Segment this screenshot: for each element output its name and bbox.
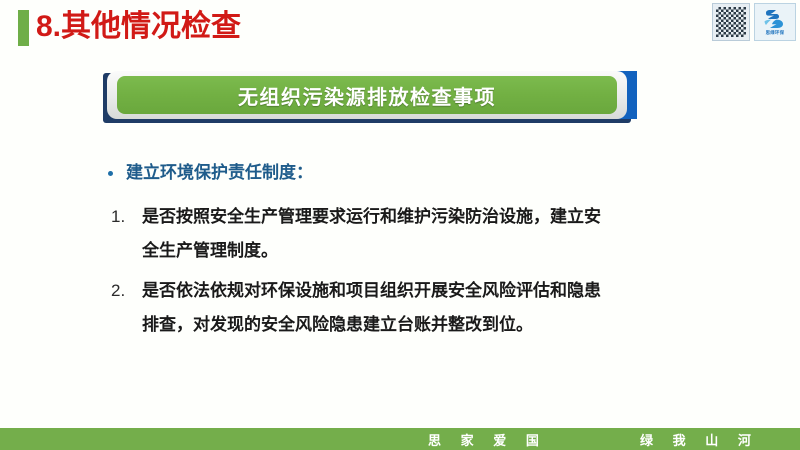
list-item: 1. 是否按照安全生产管理要求运行和维护污染防治设施，建立安 全生产管理制度。 [108, 200, 728, 268]
brand-block: 思绿环保 [712, 3, 796, 41]
bullet-heading-text: 建立环境保护责任制度： [126, 160, 313, 186]
company-logo-icon[interactable]: 思绿环保 [754, 3, 796, 41]
content-area: 建立环境保护责任制度： 1. 是否按照安全生产管理要求运行和维护污染防治设施，建… [108, 160, 728, 348]
bullet-dot-icon [108, 171, 113, 176]
footer-slogan-right: 绿 我 山 河 [640, 430, 759, 449]
list-item: 2. 是否依法依规对环保设施和项目组织开展安全风险评估和隐患 排查，对发现的安全… [108, 274, 728, 342]
list-item-body: 是否依法依规对环保设施和项目组织开展安全风险评估和隐患 排查，对发现的安全风险隐… [142, 274, 728, 342]
footer-slogan-left: 思 家 爱 国 [428, 430, 547, 449]
list-item-line: 排查，对发现的安全风险隐患建立台账并整改到位。 [142, 308, 728, 342]
list-item-number: 1. [108, 200, 142, 234]
list-item-body: 是否按照安全生产管理要求运行和维护污染防治设施，建立安 全生产管理制度。 [142, 200, 728, 268]
slide-root: 8.其他情况检查 思绿环保 无组织污染源排放检查事项 [0, 0, 800, 450]
list-item-number: 2. [108, 274, 142, 308]
qr-code-pattern [716, 7, 746, 37]
title-accent-bar [18, 10, 29, 46]
banner-title: 无组织污染源排放检查事项 [238, 81, 496, 110]
logo-text: 思绿环保 [766, 30, 785, 35]
bullet-heading: 建立环境保护责任制度： [108, 160, 728, 186]
list-item-line: 全生产管理制度。 [142, 234, 728, 268]
qr-code-icon[interactable] [712, 3, 750, 41]
section-banner: 无组织污染源排放检查事项 [103, 71, 637, 123]
banner-body: 无组织污染源排放检查事项 [117, 76, 617, 114]
logo-mark-icon [763, 9, 787, 29]
list-item-line: 是否按照安全生产管理要求运行和维护污染防治设施，建立安 [142, 200, 728, 234]
slide-header: 8.其他情况检查 思绿环保 [0, 0, 800, 56]
page-title: 8.其他情况检查 [36, 7, 241, 47]
logo-svg [763, 9, 787, 29]
list-item-line: 是否依法依规对环保设施和项目组织开展安全风险评估和隐患 [142, 274, 728, 308]
slide-footer: 思 家 爱 国 绿 我 山 河 [0, 428, 800, 450]
